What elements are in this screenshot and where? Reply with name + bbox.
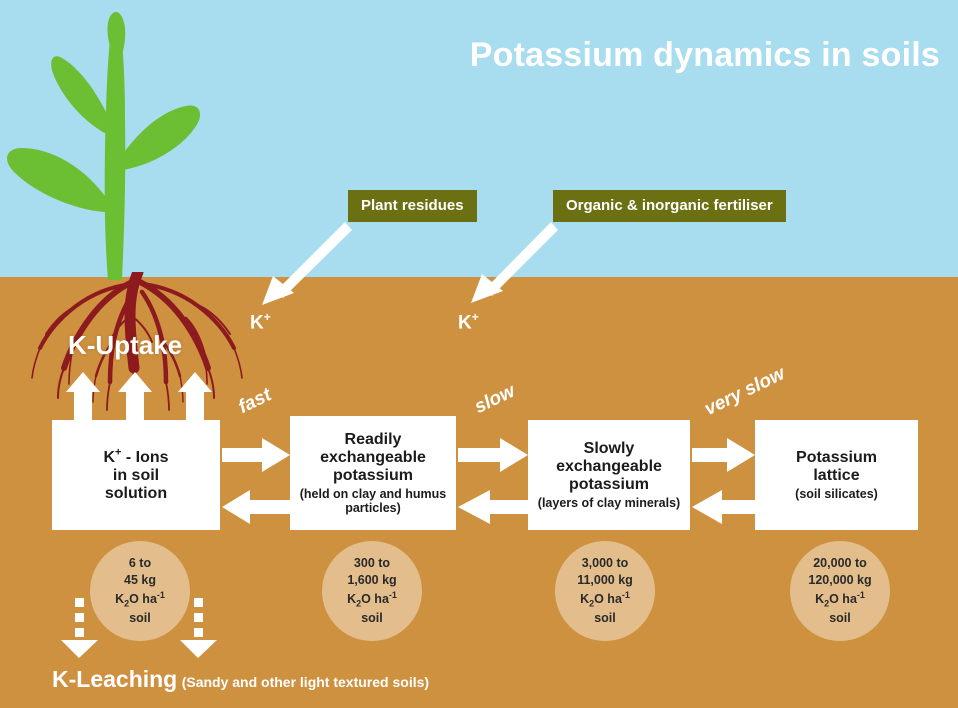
k-symbol: K xyxy=(458,312,472,333)
pool-title-line-2: lattice xyxy=(813,467,859,484)
k-plus-label-left: K+ xyxy=(250,310,271,334)
amount-circle-readily-exchangeable-potassium: 300 to 1,600 kg K2O ha-1 soil xyxy=(322,541,422,641)
pool-subtitle: (layers of clay minerals) xyxy=(538,496,680,510)
amount-mass: 120,000 kg xyxy=(808,572,871,589)
pool-subtitle: (soil silicates) xyxy=(795,487,878,501)
pool-box-slowly-exchangeable-potassium: Slowly exchangeable potassium (layers of… xyxy=(528,420,690,530)
amount-circle-slowly-exchangeable-potassium: 3,000 to 11,000 kg K2O ha-1 soil xyxy=(555,541,655,641)
plant-illustration xyxy=(0,10,250,290)
pool-title: Potassium lattice xyxy=(796,449,877,485)
pool-title-line-2: exchangeable xyxy=(320,449,426,466)
pool-box-k-ions-in-soil-solution: K+ - Ions in soil solution xyxy=(52,420,220,530)
pool-title-line-3: solution xyxy=(105,485,167,502)
pool-title: Slowly exchangeable potassium xyxy=(556,440,662,494)
k-symbol: K xyxy=(250,312,264,333)
amount-unit: K2O ha-1 xyxy=(815,589,865,610)
pool-box-readily-exchangeable-potassium: Readily exchangeable potassium (held on … xyxy=(290,416,456,530)
amount-unit: K2O ha-1 xyxy=(115,589,165,610)
amount-unit: K2O ha-1 xyxy=(347,589,397,610)
pool-title-line-3: potassium xyxy=(333,467,413,484)
amount-mass: 11,000 kg xyxy=(577,572,633,589)
amount-circle-potassium-lattice: 20,000 to 120,000 kg K2O ha-1 soil xyxy=(790,541,890,641)
pool-title-line-1: Slowly xyxy=(584,440,635,457)
diagram-canvas: Potassium dynamics in soils Plant residu… xyxy=(0,0,958,708)
pool-title-line-1: Potassium xyxy=(796,449,877,466)
label-plant-residues: Plant residues xyxy=(348,190,477,222)
amount-mass: 1,600 kg xyxy=(347,572,396,589)
page-title: Potassium dynamics in soils xyxy=(420,36,940,75)
pool-title-line-3: potassium xyxy=(569,476,649,493)
amount-unit: K2O ha-1 xyxy=(580,589,630,610)
leaching-caption: K-Leaching (Sandy and other light textur… xyxy=(52,666,429,693)
leaching-note: (Sandy and other light textured soils) xyxy=(182,674,429,690)
amount-mass: 45 kg xyxy=(124,572,156,589)
leaching-heading: K-Leaching xyxy=(52,666,177,692)
label-organic-inorganic-fertiliser: Organic & inorganic fertiliser xyxy=(553,190,786,222)
amount-medium: soil xyxy=(361,610,383,627)
amount-range: 6 to xyxy=(129,555,151,572)
k-plus-label-right: K+ xyxy=(458,310,479,334)
pool-title-line-1: K+ - Ions xyxy=(103,449,168,466)
pool-title-line-2: in soil xyxy=(113,467,159,484)
amount-range: 300 to xyxy=(354,555,390,572)
k-uptake-label: K-Uptake xyxy=(68,330,182,361)
pool-box-potassium-lattice: Potassium lattice (soil silicates) xyxy=(755,420,918,530)
pool-title: Readily exchangeable potassium xyxy=(320,431,426,485)
pool-title-line-2: exchangeable xyxy=(556,458,662,475)
k-charge: + xyxy=(472,310,479,324)
pool-title: K+ - Ions in soil solution xyxy=(103,447,168,503)
amount-circle-k-ions-in-soil-solution: 6 to 45 kg K2O ha-1 soil xyxy=(90,541,190,641)
k-charge: + xyxy=(264,310,271,324)
amount-medium: soil xyxy=(829,610,851,627)
amount-range: 3,000 to xyxy=(582,555,629,572)
amount-range: 20,000 to xyxy=(813,555,867,572)
pool-subtitle: (held on clay and humus particles) xyxy=(296,487,450,515)
amount-medium: soil xyxy=(594,610,616,627)
amount-medium: soil xyxy=(129,610,151,627)
pool-title-line-1: Readily xyxy=(345,431,402,448)
